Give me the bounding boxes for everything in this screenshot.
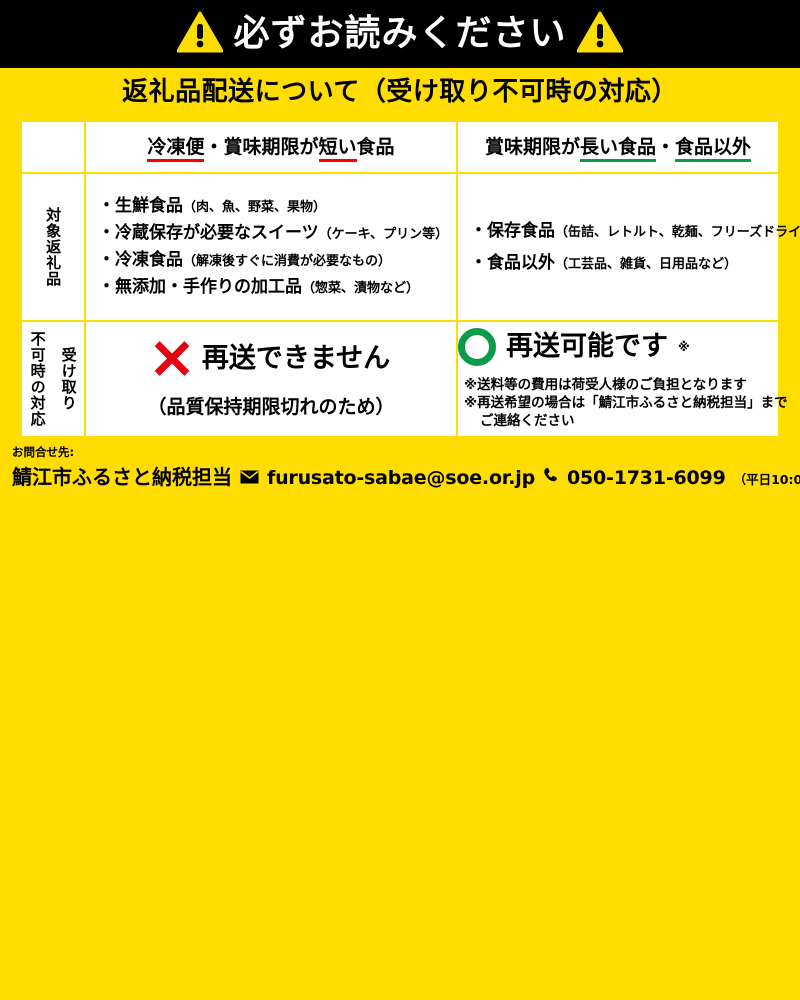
- list-item-main: 保存食品: [487, 221, 555, 241]
- footer-hours: （平日10:00-17:00対応）: [734, 469, 800, 488]
- bullet-dot-icon: ・: [98, 196, 115, 216]
- asterisk-mark: ※: [678, 340, 690, 354]
- list-item-sub: （解凍後すぐに消費が必要なもの）: [183, 254, 391, 269]
- resend-notes: ※送料等の費用は荷受人様のご負担となります ※再送希望の場合は「鯖江市ふるさと納…: [458, 376, 778, 431]
- row-label-text: 対象返礼品: [45, 174, 61, 320]
- header-left-mid: ・賞味期限が: [204, 136, 318, 158]
- note-line: ご連絡ください: [464, 412, 778, 430]
- bullet-dot-icon: ・: [98, 223, 115, 243]
- header-cell-long-shelf-life: 賞味期限が長い食品・食品以外: [458, 122, 778, 172]
- can-resend-headline: 再送可能です: [506, 333, 668, 360]
- list-item-sub: （缶詰、レトルト、乾麺、フリーズドライ）: [555, 225, 800, 240]
- footer-contact: お問合せ先: 鯖江市ふるさと納税担当 furusato-sabae@soe.or…: [0, 442, 800, 500]
- row-label-text-col2: 受け取り: [60, 322, 76, 436]
- comparison-table: 冷凍便・賞味期限が短い食品 賞味期限が長い食品・食品以外 対象返礼品: [18, 118, 782, 440]
- banner-title: 必ずお読みください: [233, 16, 566, 52]
- subtitle-bar: 返礼品配送について（受け取り不可時の対応）: [0, 68, 800, 116]
- header-right-mid: ・: [656, 136, 675, 158]
- list-item: ・保存食品（缶詰、レトルト、乾麺、フリーズドライ）: [470, 221, 772, 241]
- cell-right-items: ・保存食品（缶詰、レトルト、乾麺、フリーズドライ） ・食品以外（工芸品、雑貨、日…: [458, 174, 778, 320]
- list-item-main: 食品以外: [487, 253, 555, 273]
- list-item: ・食品以外（工芸品、雑貨、日用品など）: [470, 253, 772, 273]
- header-left-seg1: 冷凍便: [147, 136, 204, 162]
- poster-root: 必ずお読みください 返礼品配送について（受け取り不可時の対応） 冷凍便・賞味期限…: [0, 0, 800, 500]
- cell-cannot-resend: 再送できません （品質保持期限切れのため）: [86, 322, 456, 436]
- header-cell-short-shelf-life: 冷凍便・賞味期限が短い食品: [86, 122, 456, 172]
- subtitle-text: 返礼品配送について（受け取り不可時の対応）: [122, 79, 678, 105]
- cell-can-resend: 再送可能です※ ※送料等の費用は荷受人様のご負担となります ※再送希望の場合は「…: [458, 322, 778, 436]
- circle-mark-icon: [458, 328, 496, 366]
- row-label-text-col1: 不可時の対応: [29, 322, 45, 436]
- note-line: ※送料等の費用は荷受人様のご負担となります: [464, 376, 778, 394]
- cell-left-items: ・生鮮食品（肉、魚、野菜、果物） ・冷蔵保存が必要なスイーツ（ケーキ、プリン等）…: [86, 174, 456, 320]
- header-right-prefix: 賞味期限が: [485, 136, 580, 158]
- footer-email[interactable]: furusato-sabae@soe.or.jp: [267, 467, 535, 489]
- warning-triangle-icon: [177, 11, 223, 57]
- list-item-main: 無添加・手作りの加工品: [115, 277, 302, 297]
- list-item: ・生鮮食品（肉、魚、野菜、果物）: [98, 196, 450, 216]
- header-left-seg2: 短い: [319, 136, 357, 162]
- row-label-target-items: 対象返礼品: [22, 174, 84, 320]
- header-corner-cell: [22, 122, 84, 172]
- bullet-dot-icon: ・: [470, 253, 487, 273]
- header-banner: 必ずお読みください: [0, 0, 800, 68]
- header-right-seg1: 長い食品: [580, 136, 656, 162]
- bullet-dot-icon: ・: [98, 250, 115, 270]
- list-item-main: 生鮮食品: [115, 196, 183, 216]
- list-item-sub: （ケーキ、プリン等）: [319, 227, 448, 242]
- warning-triangle-icon: [577, 11, 623, 57]
- list-item: ・冷蔵保存が必要なスイーツ（ケーキ、プリン等）: [98, 223, 450, 243]
- table-row-response: 不可時の対応 受け取り 再送できません （品質保持期限切れのため） 再送可能です…: [22, 322, 778, 436]
- footer-phone[interactable]: 050-1731-6099: [567, 467, 726, 489]
- cannot-resend-headline: 再送できません: [202, 345, 390, 372]
- cannot-resend-subtext: （品質保持期限切れのため）: [86, 392, 456, 419]
- list-item: ・冷凍食品（解凍後すぐに消費が必要なもの）: [98, 250, 450, 270]
- bullet-dot-icon: ・: [98, 277, 115, 297]
- table-header-row: 冷凍便・賞味期限が短い食品 賞味期限が長い食品・食品以外: [22, 122, 778, 172]
- header-right-seg2: 食品以外: [675, 136, 751, 162]
- telephone-icon: [543, 467, 559, 488]
- x-mark-icon: [152, 338, 192, 378]
- list-item-sub: （工芸品、雑貨、日用品など）: [555, 257, 737, 272]
- list-item: ・無添加・手作りの加工品（惣菜、漬物など）: [98, 277, 450, 297]
- list-item-main: 冷蔵保存が必要なスイーツ: [115, 223, 319, 243]
- footer-organization: 鯖江市ふるさと納税担当: [12, 461, 232, 490]
- list-item-sub: （肉、魚、野菜、果物）: [183, 200, 326, 215]
- note-line: ※再送希望の場合は「鯖江市ふるさと納税担当」まで: [464, 394, 778, 412]
- table-row-target-items: 対象返礼品 ・生鮮食品（肉、魚、野菜、果物） ・冷蔵保存が必要なスイーツ（ケーキ…: [22, 174, 778, 320]
- envelope-icon: [240, 469, 259, 488]
- list-item-sub: （惣菜、漬物など）: [302, 281, 419, 296]
- row-label-response: 不可時の対応 受け取り: [22, 322, 84, 436]
- header-left-suffix: 食品: [357, 136, 395, 158]
- footer-label: お問合せ先:: [12, 446, 788, 460]
- list-item-main: 冷凍食品: [115, 250, 183, 270]
- bullet-dot-icon: ・: [470, 221, 487, 241]
